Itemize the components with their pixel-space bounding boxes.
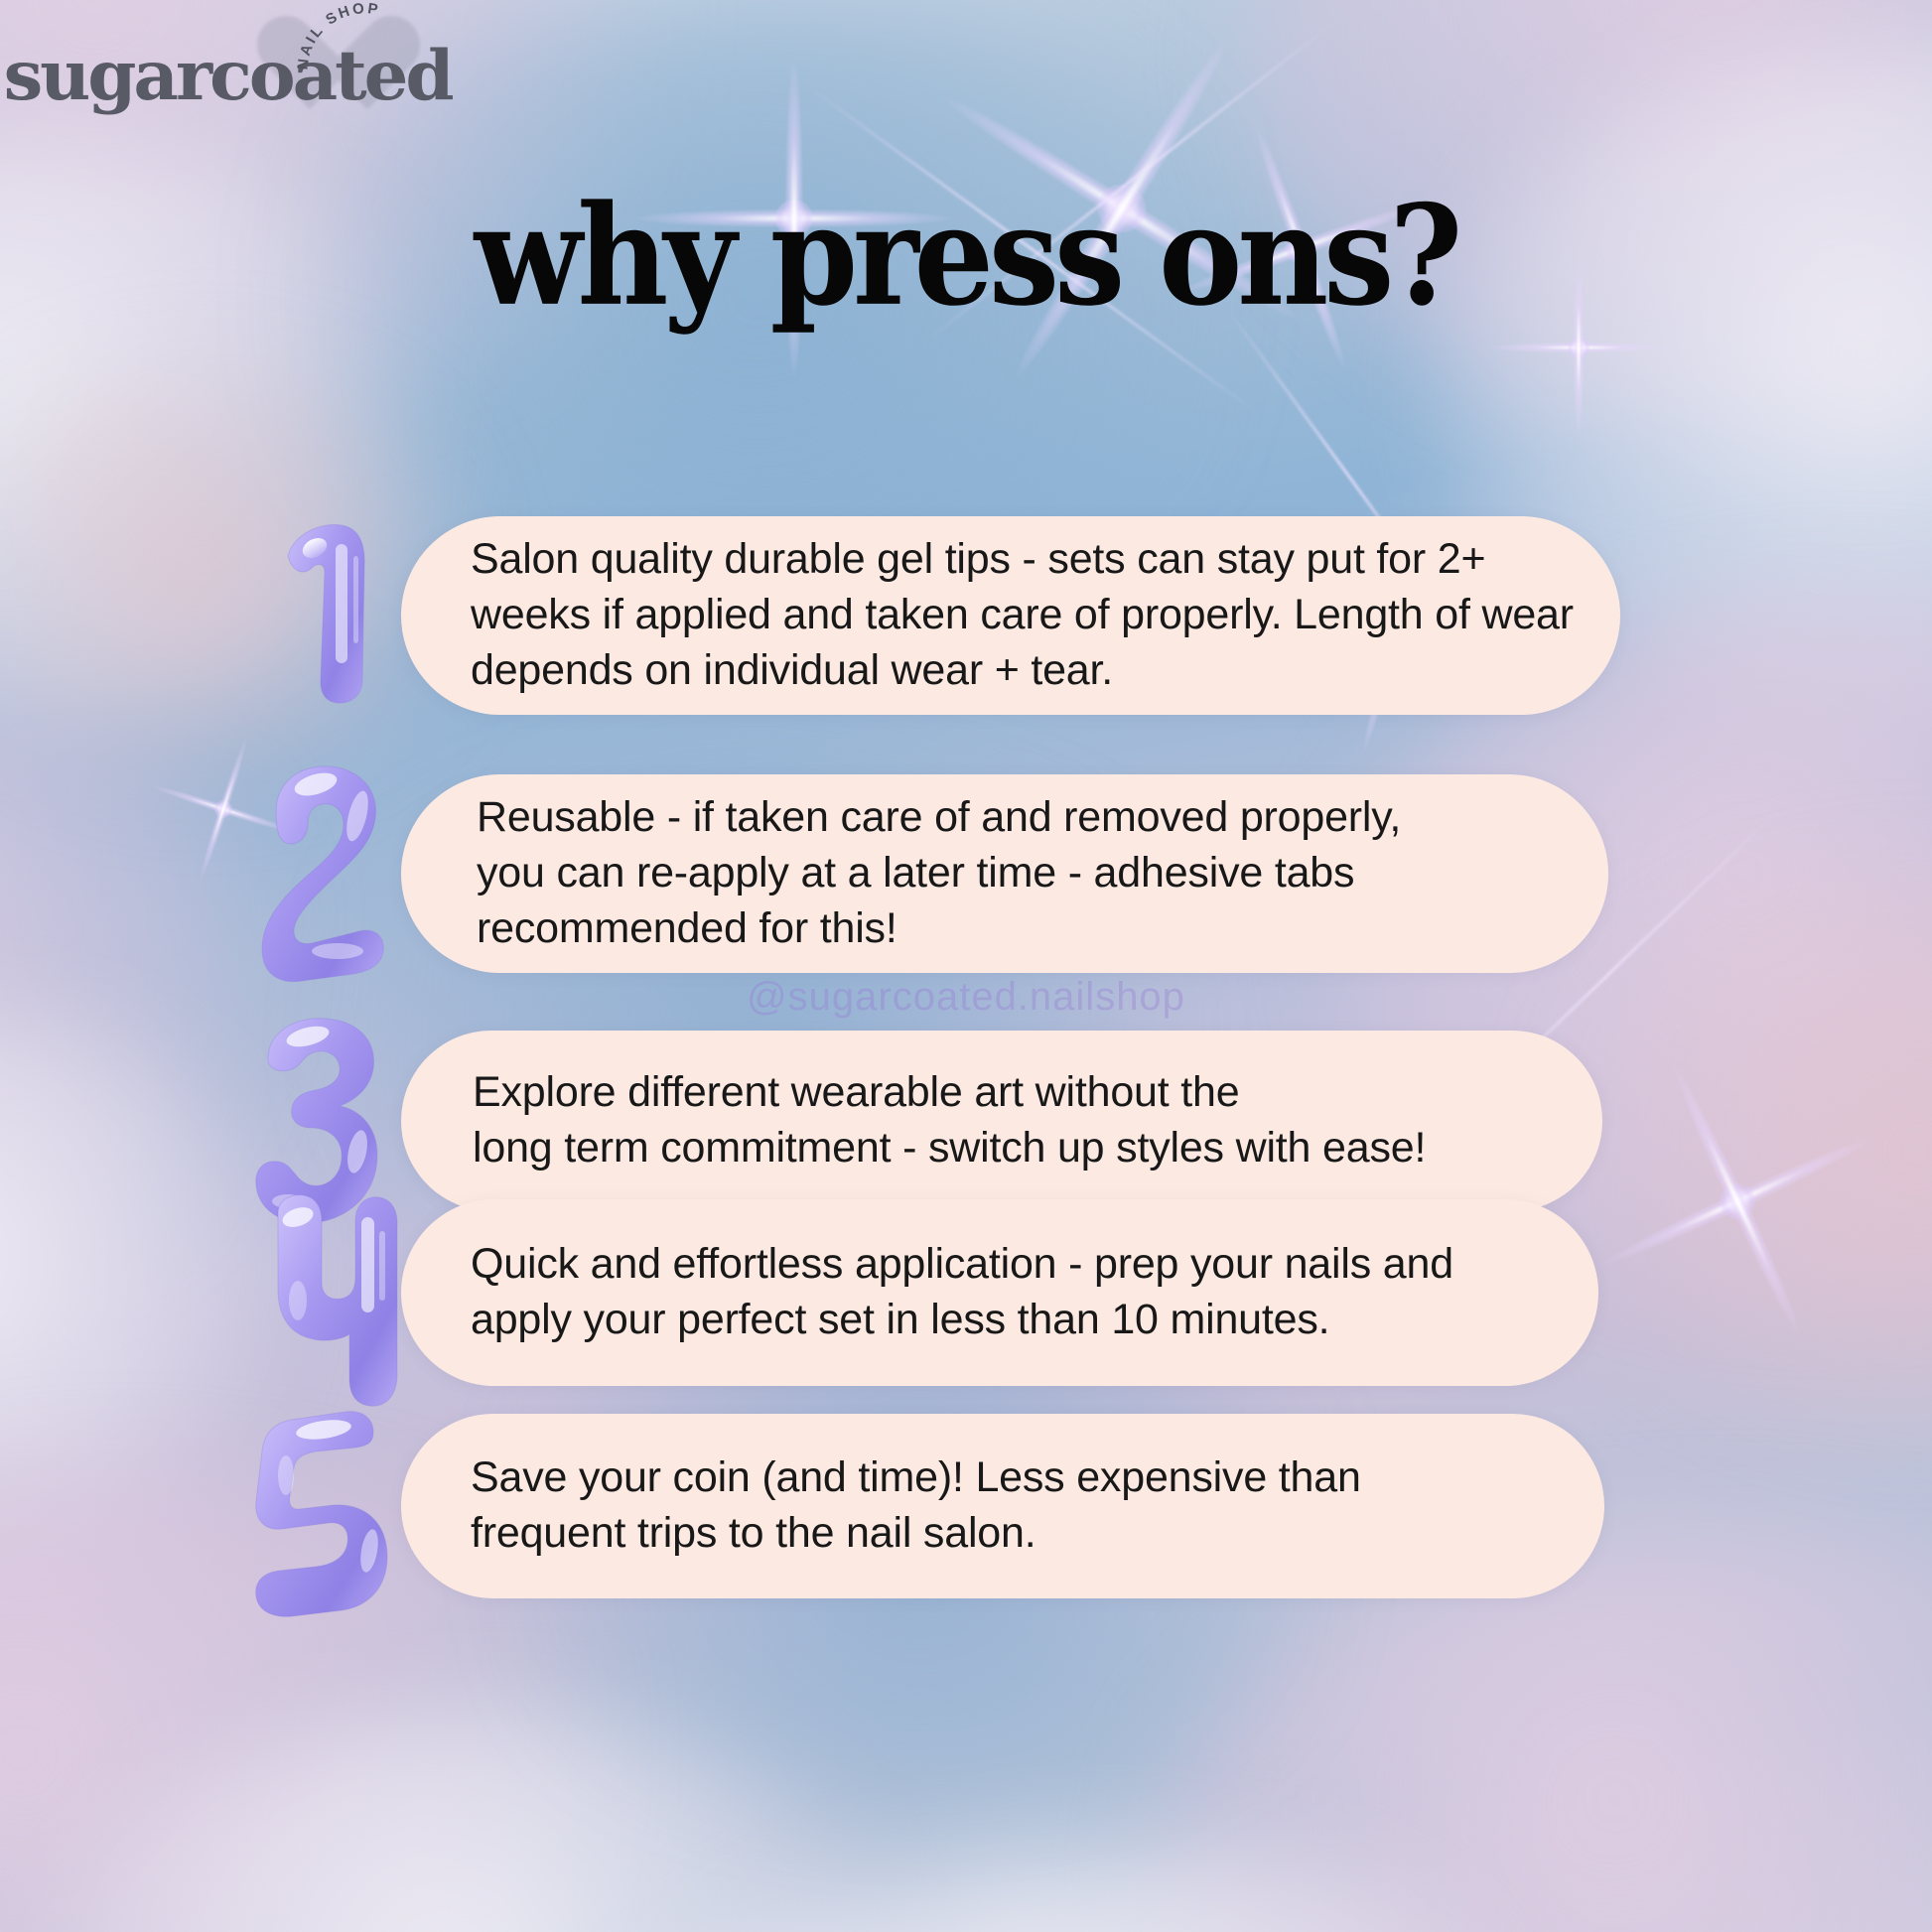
list-item-number — [246, 1406, 395, 1624]
list-item-text: Salon quality durable gel tips - sets ca… — [471, 532, 1574, 699]
list-item-number — [270, 514, 399, 708]
list-item: Salon quality durable gel tips - sets ca… — [401, 516, 1620, 715]
list-item-text: Quick and effortless application - prep … — [471, 1237, 1453, 1348]
list-item: Save your coin (and time)! Less expensiv… — [401, 1414, 1604, 1598]
benefits-list: Salon quality durable gel tips - sets ca… — [0, 0, 1932, 1932]
list-item: Explore different wearable art without t… — [401, 1031, 1602, 1211]
list-item-text: Reusable - if taken care of and removed … — [477, 790, 1401, 957]
list-item: Reusable - if taken care of and removed … — [401, 774, 1608, 973]
list-item-number — [250, 757, 399, 985]
list-item-text: Explore different wearable art without t… — [473, 1065, 1426, 1176]
list-item: Quick and effortless application - prep … — [401, 1199, 1598, 1386]
list-item-text: Save your coin (and time)! Less expensiv… — [471, 1450, 1361, 1562]
list-item-number — [254, 1191, 403, 1416]
